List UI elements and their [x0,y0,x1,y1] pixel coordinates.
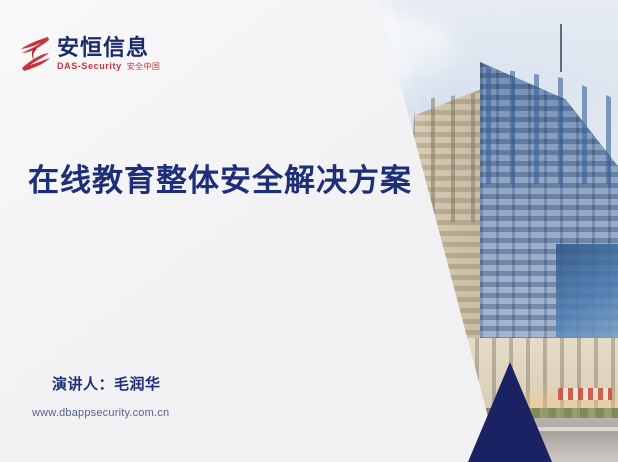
slide-title: 在线教育整体安全解决方案 [28,155,412,200]
logo-wordmark: 安恒信息 DAS-Security 安全中国 [57,34,160,72]
website-url: www.dbappsecurity.com.cn [32,407,169,419]
das-security-swoosh-icon [18,34,52,74]
striped-awning [558,388,612,400]
tower-arch-crown [480,64,618,184]
company-logo: 安恒信息 DAS-Security 安全中国 [18,34,160,74]
presenter-line: 演讲人：毛润华 [52,373,161,394]
tower-glass-panel [556,244,618,340]
antenna-mast [560,24,562,72]
logo-tagline-cn: 安全中国 [127,61,161,72]
title-slide: 安恒信息 DAS-Security 安全中国 在线教育整体安全解决方案 演讲人：… [0,0,618,462]
logo-company-name-cn: 安恒信息 [57,35,160,60]
logo-company-name-en: DAS-Security [57,61,122,71]
logo-subtitle: DAS-Security 安全中国 [57,61,160,72]
